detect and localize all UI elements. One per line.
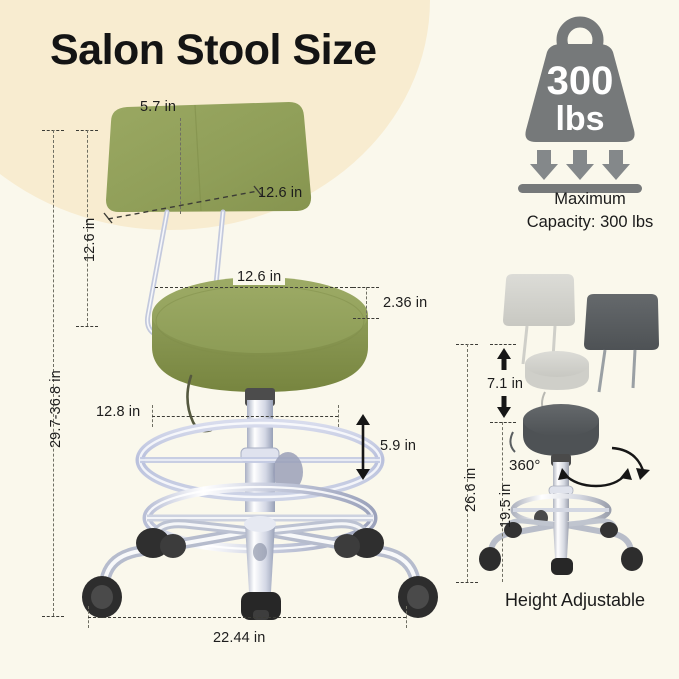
seat-diameter-guide (155, 287, 353, 288)
base-width-guide (88, 617, 406, 618)
capacity-caption-line1: Maximum (490, 188, 679, 211)
page-title: Salon Stool Size (50, 26, 377, 75)
footring-diameter-guide (152, 416, 338, 417)
capacity-caption: Maximum Capacity: 300 lbs (490, 188, 679, 234)
side-total-bottom-cap (456, 582, 478, 583)
footring-height-arrow (352, 414, 374, 480)
side-adjust-mid-cap (490, 422, 516, 423)
backrest-height-bottom-cap (76, 326, 98, 327)
overall-height-bottom-cap (42, 616, 64, 617)
seat-thickness-line (366, 287, 367, 318)
footring-height-label: 5.9 in (380, 438, 416, 454)
overall-height-label: 29.7-36.8 in (48, 370, 64, 448)
seat-thickness-label: 2.36 in (383, 295, 427, 311)
rotation-indicator-icon (540, 440, 660, 500)
capacity-caption-line2: Capacity: 300 lbs (490, 211, 679, 234)
side-adjust-label: 7.1 in (487, 376, 523, 392)
side-total-line (467, 344, 468, 582)
rotation-label: 360° (509, 457, 540, 474)
seat-thickness-bottom-cap (353, 318, 379, 319)
footring-diameter-label: 12.8 in (96, 404, 140, 420)
side-total-label: 26.6 in (463, 468, 479, 512)
side-min-height-label: 19.5 in (498, 484, 514, 528)
infographic-canvas: Salon Stool Size (0, 0, 679, 679)
weight-icon: 300 lbs (500, 18, 660, 188)
base-width-right-cap (406, 606, 407, 628)
weight-value: 300 (547, 59, 614, 103)
side-adjust-top-cap (490, 344, 516, 345)
svg-text:lbs: lbs (555, 100, 604, 138)
base-width-label: 22.44 in (213, 630, 265, 646)
footring-right-cap (338, 405, 339, 427)
green-stool-illustration (75, 100, 445, 620)
seat-diameter-label: 12.6 in (233, 269, 285, 285)
backrest-height-label: 12.6 in (82, 218, 98, 262)
backrest-width-guide (100, 185, 270, 225)
backrest-depth-label: 5.7 in (140, 99, 176, 115)
gray-stool-illustration (483, 272, 679, 582)
height-adjustable-caption: Height Adjustable (470, 590, 679, 611)
backrest-width-label: 12.6 in (258, 185, 302, 201)
